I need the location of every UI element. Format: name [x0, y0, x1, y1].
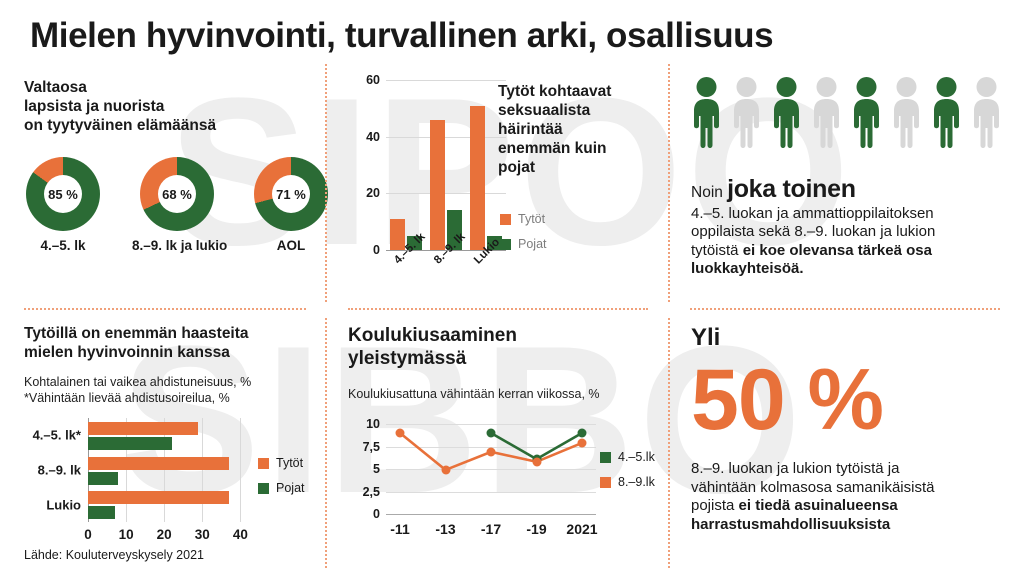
- bar-chart-plot: 0204060: [386, 80, 506, 250]
- title-line-2: seksuaalista: [498, 101, 666, 120]
- title-line-2: mielen hyvinvoinnin kanssa: [24, 343, 314, 362]
- body-line-3-bold: ei koe olevansa tärkeä osa: [743, 242, 932, 259]
- title-line-3: on tyytyväinen elämäänsä: [24, 116, 314, 135]
- y-axis-tick: 60: [366, 73, 380, 87]
- legend-swatch-icon: [600, 452, 611, 463]
- donut-value: 68 %: [162, 187, 192, 202]
- donut-value: 71 %: [276, 187, 306, 202]
- x-axis-tick: 30: [195, 527, 210, 542]
- donut-chart-2: 68 %: [140, 157, 214, 231]
- y-axis-tick: 7,5: [363, 440, 380, 454]
- person-icon: [888, 76, 925, 150]
- bar-chart-plot: 0102030404.–5. lk*8.–9. lkLukio: [88, 418, 248, 522]
- divider-horizontal-middle: [348, 308, 648, 310]
- body-line-2: vähintään kolmasosa samanikäisistä: [691, 479, 1011, 498]
- person-icon: [928, 76, 965, 150]
- panel-life-satisfaction-title: Valtaosa lapsista ja nuorista on tyytyvä…: [24, 78, 314, 135]
- data-point: [532, 457, 541, 466]
- category-label: 4.–5. lk*: [33, 428, 81, 443]
- data-point: [396, 429, 405, 438]
- bar: [88, 457, 229, 470]
- data-point: [578, 438, 587, 447]
- donut-label: 8.–9. lk ja lukio: [132, 238, 222, 253]
- legend-item: Tytöt: [500, 212, 547, 226]
- body-line-4: harrastusmahdollisuuksista: [691, 516, 1011, 535]
- hobbies-number: 50 %: [691, 356, 1011, 444]
- divider-vertical-bottom-right: [668, 318, 670, 568]
- body-line-3-bold: ei tiedä asuinalueensa: [739, 497, 898, 514]
- legend-label: Pojat: [276, 481, 305, 495]
- divider-vertical-top-left: [325, 64, 327, 302]
- data-point: [487, 429, 496, 438]
- gridline: [202, 418, 203, 522]
- body-line-3-plain: tytöistä: [691, 242, 743, 259]
- legend-item: Pojat: [500, 237, 547, 251]
- legend-swatch-icon: [258, 458, 269, 469]
- panel-bullying: Koulukiusaaminen yleistymässä Koulukiusa…: [348, 324, 648, 402]
- legend-label: 4.–5.lk: [618, 450, 655, 464]
- legend-bullying: 4.–5.lk 8.–9.lk: [600, 450, 655, 500]
- y-axis-tick: 0: [373, 243, 380, 257]
- title-line-5: pojat: [498, 158, 666, 177]
- donut-hole: 71 %: [272, 175, 310, 213]
- infographic-root: SIPOO SIBBO Mielen hyvinvointi, turvalli…: [0, 0, 1024, 579]
- subtitle-line-1: Kohtalainen tai vaikea ahdistuneisuus, %: [24, 374, 314, 390]
- gridline: [240, 418, 241, 522]
- title-line-2: lapsista ja nuorista: [24, 97, 314, 116]
- legend-anxiety: Tytöt Pojat: [258, 456, 305, 506]
- belonging-lead-big: joka toinen: [727, 175, 856, 203]
- hobbies-body: 8.–9. luokan ja lukion tytöistä ja vähin…: [691, 460, 1011, 534]
- hobbies-lead: Yli: [691, 324, 1011, 352]
- body-line-4: luokkayhteisöä.: [691, 260, 1011, 279]
- donut-hole: 68 %: [158, 175, 196, 213]
- category-label: Lukio: [46, 497, 81, 512]
- donut-label: 4.–5. lk: [18, 238, 108, 253]
- y-axis-tick: 5: [373, 462, 380, 476]
- bar-groups: [386, 80, 506, 250]
- legend-swatch-icon: [258, 483, 269, 494]
- divider-horizontal-left: [24, 308, 306, 310]
- legend-item: 8.–9.lk: [600, 475, 655, 489]
- bar: [88, 491, 229, 504]
- title-line-1: Koulukiusaaminen: [348, 324, 648, 347]
- gridline: [386, 514, 596, 515]
- page-header: Mielen hyvinvointi, turvallinen arki, os…: [30, 16, 994, 60]
- bar: [88, 506, 115, 519]
- divider-vertical-top-right: [668, 64, 670, 302]
- category-label: 8.–9. lk: [38, 463, 81, 478]
- legend-item: Tytöt: [258, 456, 305, 470]
- subtitle-line-1: Koulukiusattuna vähintään kerran viikoss…: [348, 386, 648, 402]
- donut-item: 85 % 4.–5. lk: [18, 157, 108, 253]
- person-icon: [808, 76, 845, 150]
- panel-life-satisfaction: Valtaosa lapsista ja nuorista on tyytyvä…: [24, 78, 314, 135]
- source-note: Lähde: Kouluterveyskysely 2021: [24, 548, 204, 562]
- person-icon: [728, 76, 765, 150]
- title-line-1: Tytöt kohtaavat: [498, 82, 666, 101]
- panel-anxiety-subtitle: Kohtalainen tai vaikea ahdistuneisuus, %…: [24, 374, 314, 406]
- divider-vertical-bottom-left: [325, 318, 327, 568]
- body-line-1: 4.–5. luokan ja ammattioppilaitoksen: [691, 205, 1011, 224]
- legend-label: Tytöt: [276, 456, 303, 470]
- bar: [88, 422, 198, 435]
- x-axis-tick: 40: [233, 527, 248, 542]
- donut-hole: 85 %: [44, 175, 82, 213]
- title-line-2: yleistymässä: [348, 347, 648, 370]
- body-line-3: tytöistä ei koe olevansa tärkeä osa: [691, 242, 1011, 261]
- x-axis-tick: 2021: [566, 521, 597, 537]
- legend-label: Pojat: [518, 237, 547, 251]
- bar-chart-x-labels: 4.–5. lk8.–9. lkLukio: [386, 254, 506, 304]
- person-icon: [848, 76, 885, 150]
- divider-horizontal-right: [690, 308, 1000, 310]
- body-line-4-bold: luokkayhteisöä.: [691, 260, 804, 277]
- person-icon: [968, 76, 1005, 150]
- page-title: Mielen hyvinvointi, turvallinen arki, os…: [30, 16, 994, 56]
- bar-group: [426, 80, 466, 250]
- data-point: [441, 465, 450, 474]
- legend-swatch-icon: [500, 239, 511, 250]
- legend-label: Tytöt: [518, 212, 545, 226]
- person-icon: [768, 76, 805, 150]
- y-axis-tick: 10: [366, 417, 380, 431]
- panel-hobbies: Yli 50 % 8.–9. luokan ja lukion tytöistä…: [691, 324, 1011, 534]
- y-axis-tick: 0: [373, 507, 380, 521]
- panel-anxiety-title: Tytöillä on enemmän haasteita mielen hyv…: [24, 324, 314, 362]
- belonging-lead-small: Noin: [691, 184, 723, 201]
- subtitle-line-2: *Vähintään lievää ahdistusoireilua, %: [24, 390, 314, 406]
- body-line-3: pojista ei tiedä asuinalueensa: [691, 497, 1011, 516]
- legend-harassment: Tytöt Pojat: [500, 212, 547, 262]
- y-axis-tick: 20: [366, 186, 380, 200]
- y-axis-tick: 40: [366, 130, 380, 144]
- title-line-1: Tytöillä on enemmän haasteita: [24, 324, 314, 343]
- title-line-3: häirintää: [498, 120, 666, 139]
- belonging-lead: Noin joka toinen: [691, 180, 1011, 203]
- panel-bullying-title: Koulukiusaaminen yleistymässä: [348, 324, 648, 370]
- donut-item: 68 % 8.–9. lk ja lukio: [132, 157, 222, 253]
- data-point: [578, 429, 587, 438]
- donut-value: 85 %: [48, 187, 78, 202]
- y-axis-tick: 2,5: [363, 485, 380, 499]
- bar-group: [386, 80, 426, 250]
- bar: [88, 437, 172, 450]
- panel-bullying-subtitle: Koulukiusattuna vähintään kerran viikoss…: [348, 386, 648, 402]
- x-axis-tick: -19: [526, 521, 546, 537]
- legend-item: Pojat: [258, 481, 305, 495]
- body-line-2: oppilaista sekä 8.–9. luokan ja lukion: [691, 223, 1011, 242]
- bar: [470, 106, 485, 251]
- donut-item: 71 % AOL: [246, 157, 336, 253]
- body-line-3-plain: pojista: [691, 497, 739, 514]
- belonging-body: 4.–5. luokan ja ammattioppilaitoksen opp…: [691, 205, 1011, 279]
- legend-item: 4.–5.lk: [600, 450, 655, 464]
- body-line-1: 8.–9. luokan ja lukion tytöistä ja: [691, 460, 1011, 479]
- title-line-4: enemmän kuin: [498, 139, 666, 158]
- donut-chart-1: 85 %: [26, 157, 100, 231]
- legend-label: 8.–9.lk: [618, 475, 655, 489]
- title-line-1: Valtaosa: [24, 78, 314, 97]
- line-chart-plot: 02,557,510-11-13-17-192021: [386, 424, 596, 514]
- person-icon: [688, 76, 725, 150]
- data-point: [487, 447, 496, 456]
- panel-belonging: Noin joka toinen 4.–5. luokan ja ammatti…: [691, 180, 1011, 279]
- x-axis-tick: 10: [119, 527, 134, 542]
- bar: [430, 120, 445, 250]
- legend-swatch-icon: [500, 214, 511, 225]
- panel-anxiety: Tytöillä on enemmän haasteita mielen hyv…: [24, 324, 314, 406]
- x-axis-tick: -17: [481, 521, 501, 537]
- body-line-4-bold: harrastusmahdollisuuksista: [691, 516, 890, 533]
- x-axis-tick: -13: [435, 521, 455, 537]
- legend-swatch-icon: [600, 477, 611, 488]
- bar: [88, 472, 118, 485]
- pictogram-people: [688, 76, 1005, 150]
- donut-chart-group: 85 % 4.–5. lk 68 % 8.–9. lk ja lukio 71 …: [18, 157, 336, 253]
- x-axis-tick: 0: [84, 527, 92, 542]
- line-series-group: [386, 424, 596, 514]
- x-axis-tick: 20: [157, 527, 172, 542]
- panel-harassment-title: Tytöt kohtaavat seksuaalista häirintää e…: [498, 82, 666, 177]
- x-axis-tick: -11: [390, 521, 409, 537]
- donut-label: AOL: [246, 238, 336, 253]
- donut-chart-3: 71 %: [254, 157, 328, 231]
